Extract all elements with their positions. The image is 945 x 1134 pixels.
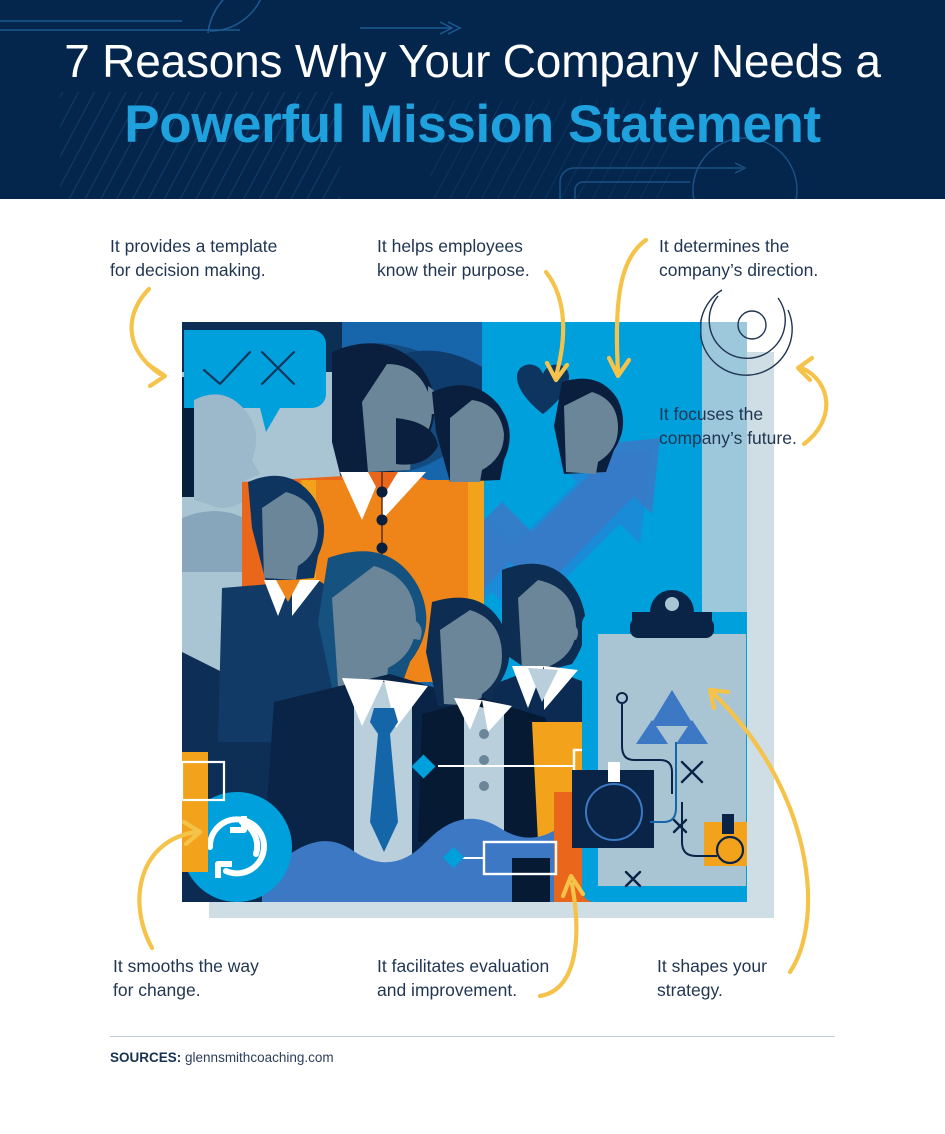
annotation-line: company’s direction. [659,258,818,282]
annotation-template-decision: It provides a template for decision maki… [110,234,277,282]
sources-line: SOURCES: glennsmithcoaching.com [110,1050,334,1065]
annotation-line: It shapes your [657,954,767,978]
annotation-evaluation-improvement: It facilitates evaluation and improvemen… [377,954,549,1002]
annotation-line: It facilitates evaluation [377,954,549,978]
arrow-company-future [802,368,826,444]
sources-label: SOURCES: [110,1050,181,1065]
annotation-line: It determines the [659,234,818,258]
title-line-1: 7 Reasons Why Your Company Needs a [0,30,945,92]
annotation-line: strategy. [657,978,767,1002]
annotation-line: It provides a template [110,234,277,258]
annotation-shapes-strategy: It shapes your strategy. [657,954,767,1002]
arrowhead-template-decision [149,365,165,386]
title-line-2: Powerful Mission Statement [0,92,945,158]
annotation-company-future: It focuses the company’s future. [659,402,797,450]
concentric-circles-decoration [700,288,800,378]
annotation-line: It helps employees [377,234,530,258]
page-title: 7 Reasons Why Your Company Needs a Power… [0,30,945,158]
annotation-line: for decision making. [110,258,277,282]
clipboard [572,590,747,902]
annotation-line: It focuses the [659,402,797,426]
annotation-line: company’s future. [659,426,797,450]
annotation-company-direction: It determines the company’s direction. [659,234,818,282]
annotation-employee-purpose: It helps employees know their purpose. [377,234,530,282]
header-banner: 7 Reasons Why Your Company Needs a Power… [0,0,945,199]
sources-value: glennsmithcoaching.com [185,1050,334,1065]
arrowhead-company-future [798,358,812,380]
annotation-line: It smooths the way [113,954,259,978]
annotation-line: and improvement. [377,978,549,1002]
annotation-line: for change. [113,978,259,1002]
footer-divider [110,1036,835,1037]
annotation-smooths-change: It smooths the way for change. [113,954,259,1002]
annotation-line: know their purpose. [377,258,530,282]
arrow-template-decision [132,289,160,374]
